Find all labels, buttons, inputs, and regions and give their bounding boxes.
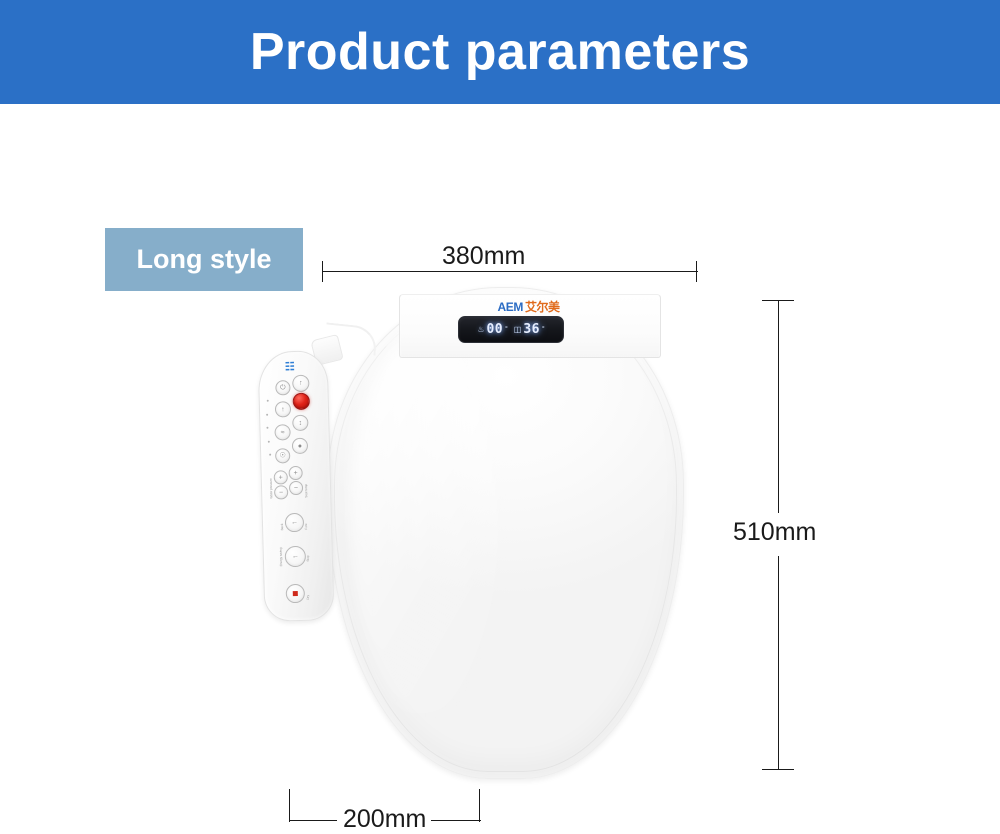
dimension-depth-line-right bbox=[431, 820, 481, 821]
led-seat-value: 00 bbox=[487, 323, 503, 336]
stop-button[interactable] bbox=[293, 393, 310, 410]
back-label: Back bbox=[281, 524, 284, 531]
brand-mark-text: AEM bbox=[498, 301, 523, 313]
led-water-unit: ° bbox=[542, 326, 545, 333]
fore-label: Fore bbox=[305, 524, 308, 530]
energy-saving-label: Energy saving bbox=[280, 547, 284, 566]
dimension-depth-tick-left bbox=[289, 789, 290, 822]
nozzle-back-button[interactable]: ← bbox=[285, 513, 304, 532]
front-wash-button[interactable]: ↑ bbox=[275, 401, 291, 417]
side-control-panel[interactable]: ☷ ⏻ ↑ ↑ ↕ ≈ ● ☉ + + − − Water pressure S… bbox=[257, 350, 334, 622]
dry-button[interactable]: ≈ bbox=[274, 424, 290, 440]
brand-chinese-text: 艾尔美 bbox=[525, 301, 560, 313]
dimension-height-line-upper bbox=[778, 301, 779, 513]
toilet-seat-lid bbox=[327, 287, 684, 779]
power-button[interactable]: ⏻ bbox=[275, 380, 290, 395]
seat-temp-up-button[interactable]: + bbox=[288, 466, 302, 480]
seat-heat-icon: ♨ bbox=[477, 326, 484, 334]
water-pressure-up-button[interactable]: + bbox=[274, 470, 288, 484]
rear-wash-button[interactable]: ↑ bbox=[292, 375, 309, 392]
move-wash-button[interactable]: ↕ bbox=[292, 415, 308, 431]
water-pressure-down-button[interactable]: − bbox=[274, 485, 288, 499]
water-pressure-label: Water pressure bbox=[270, 478, 274, 498]
led-water-value: 36 bbox=[523, 323, 539, 336]
dimension-depth-label: 200mm bbox=[343, 805, 426, 834]
deodorize-button[interactable]: ☉ bbox=[275, 448, 290, 463]
led-display-panel: ♨ 00 ° ◫ 36 ° bbox=[458, 316, 564, 343]
seat-temp-down-button[interactable]: − bbox=[289, 481, 303, 495]
indicator-dot bbox=[266, 427, 268, 429]
brand-logo: AEM 艾尔美 bbox=[436, 299, 621, 314]
page-title: Product parameters bbox=[250, 22, 750, 82]
dry-mode-button[interactable] bbox=[286, 584, 305, 603]
dimension-depth-line-left bbox=[289, 820, 337, 821]
indicator-dot bbox=[268, 441, 270, 443]
dry-label: Dry bbox=[307, 595, 310, 600]
dimension-height-tick-bottom bbox=[762, 769, 794, 770]
nozzle-position-button[interactable]: ● bbox=[292, 438, 308, 454]
wave-icon: ☷ bbox=[285, 362, 294, 373]
dimension-height-label: 510mm bbox=[733, 518, 816, 547]
stop-label: Stop bbox=[307, 555, 310, 561]
dimension-width-line bbox=[322, 271, 698, 272]
header-banner: Product parameters bbox=[0, 0, 1000, 104]
style-tag-label: Long style bbox=[136, 244, 271, 275]
led-seat-unit: ° bbox=[505, 326, 508, 333]
energy-saving-button[interactable]: ← bbox=[285, 546, 307, 568]
dimension-height-line-lower bbox=[778, 556, 779, 770]
led-readout-seat: ♨ 00 ° bbox=[477, 323, 507, 336]
indicator-dot bbox=[266, 414, 268, 416]
dimension-depth-tick-right bbox=[479, 789, 480, 822]
dimension-height-tick-top bbox=[762, 300, 794, 301]
indicator-dot bbox=[269, 454, 271, 456]
led-readout-water: ◫ 36 ° bbox=[514, 323, 545, 336]
water-temp-icon: ◫ bbox=[514, 326, 522, 334]
dimension-width-label: 380mm bbox=[442, 242, 525, 271]
seat-temp-label: Seat temp bbox=[305, 484, 309, 498]
product-illustration: AEM 艾尔美 ♨ 00 ° ◫ 36 ° ☷ ⏻ ↑ ↑ ↕ ≈ ● ☉ bbox=[255, 275, 725, 780]
indicator-dot bbox=[267, 400, 269, 402]
